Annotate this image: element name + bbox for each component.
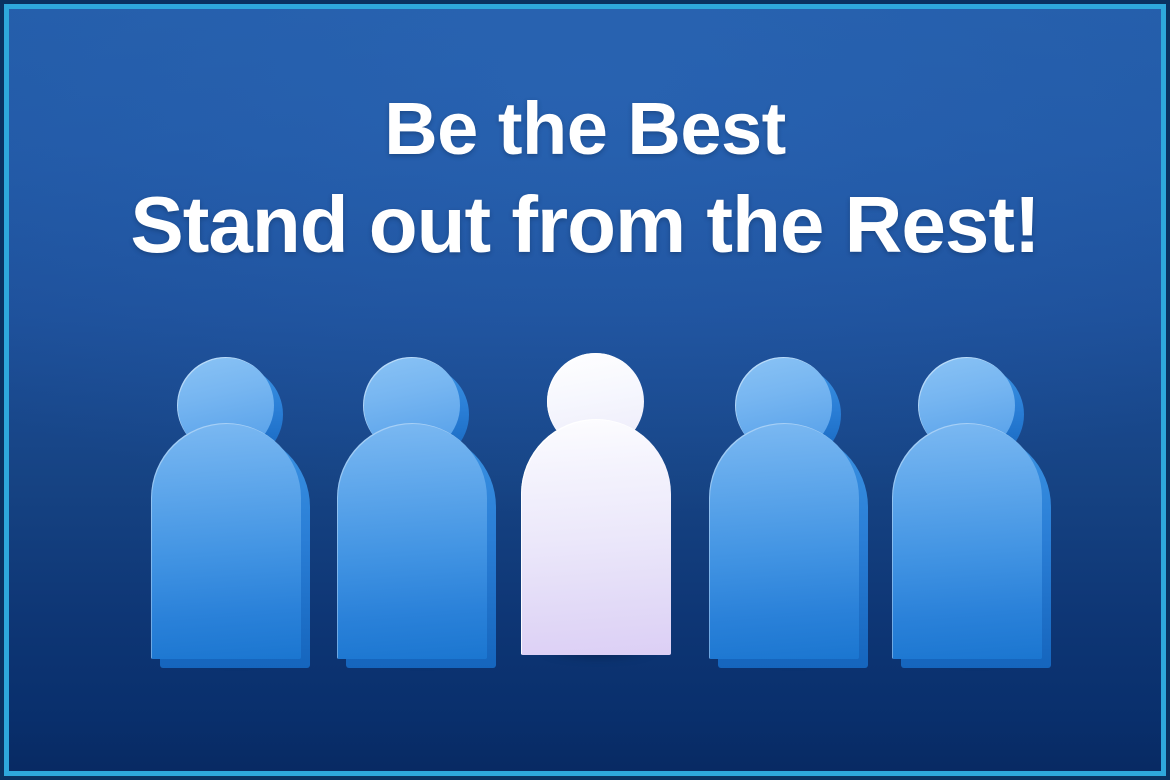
poster-border-ring: Be the Best Stand out from the Rest!	[4, 4, 1166, 776]
person-body-icon	[337, 423, 487, 659]
person-silhouette-2	[337, 357, 487, 659]
figure-front-face	[892, 357, 1042, 659]
people-row	[9, 9, 1161, 771]
person-body-icon	[709, 423, 859, 659]
person-silhouette-5	[892, 357, 1042, 659]
person-body-icon	[892, 423, 1042, 659]
person-silhouette-4	[709, 357, 859, 659]
person-silhouette-3-standout	[521, 353, 671, 655]
poster-canvas: Be the Best Stand out from the Rest!	[9, 9, 1161, 771]
figure-front-face	[337, 357, 487, 659]
person-body-icon	[521, 419, 671, 655]
figure-front-face	[521, 353, 671, 655]
person-silhouette-1	[151, 357, 301, 659]
poster: Be the Best Stand out from the Rest!	[0, 0, 1170, 780]
person-body-icon	[151, 423, 301, 659]
figure-front-face	[709, 357, 859, 659]
figure-front-face	[151, 357, 301, 659]
